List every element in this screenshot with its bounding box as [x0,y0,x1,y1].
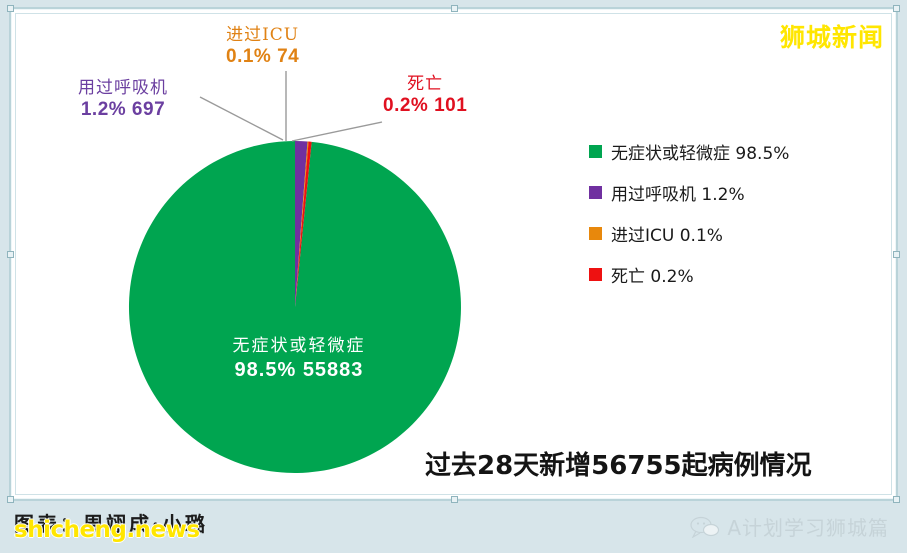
callout-label-ventilator: 用过呼吸机 1.2% 697 [78,79,168,120]
callout-icu-value: 0.1% 74 [226,46,299,67]
resize-handle-bottom-right[interactable] [893,496,900,503]
resize-handle-bottom-center[interactable] [451,496,458,503]
pie-slice-asymptomatic[interactable] [129,141,461,473]
resize-handle-bottom-left[interactable] [7,496,14,503]
callout-ventilator-value: 1.2% 697 [78,99,168,120]
resize-handle-middle-right[interactable] [893,251,900,258]
legend-swatch-icu [589,227,602,240]
legend-label-death: 死亡 0.2% [611,262,694,287]
legend-label-icu: 进过ICU 0.1% [611,221,723,246]
slide-canvas: 进过ICU 0.1% 74 用过呼吸机 1.2% 697 死亡 0.2% 101… [0,0,907,553]
legend-item-asymptomatic[interactable]: 无症状或轻微症 98.5% [589,131,789,172]
chart-title: 过去28天新增56755起病例情况 [425,445,812,482]
legend-item-icu[interactable]: 进过ICU 0.1% [589,213,789,254]
callout-death-value: 0.2% 101 [383,95,467,116]
pie-inner-label-value: 98.5% 55883 [179,358,419,382]
callout-death-name: 死亡 [383,75,467,94]
legend-swatch-ventilator [589,186,602,199]
legend-label-ventilator: 用过呼吸机 1.2% [611,180,745,205]
callout-ventilator-name: 用过呼吸机 [78,79,168,98]
chart-legend: 无症状或轻微症 98.5% 用过呼吸机 1.2% 进过ICU 0.1% 死亡 0… [589,131,789,295]
brand-logo: 狮城新闻 [780,18,884,54]
pie-chart-svg [119,127,471,479]
site-watermark: shicheng.news [14,517,200,543]
speech-bubble-icon [690,516,720,538]
resize-handle-top-right[interactable] [893,5,900,12]
callout-icu-name: 进过ICU [226,26,299,45]
legend-item-death[interactable]: 死亡 0.2% [589,254,789,295]
wechat-watermark: A计划学习狮城篇 [690,512,889,541]
legend-item-ventilator[interactable]: 用过呼吸机 1.2% [589,172,789,213]
resize-handle-top-left[interactable] [7,5,14,12]
legend-label-asymptomatic: 无症状或轻微症 98.5% [611,139,789,164]
selected-chart-object-frame[interactable]: 进过ICU 0.1% 74 用过呼吸机 1.2% 697 死亡 0.2% 101… [9,7,898,501]
callout-label-death: 死亡 0.2% 101 [383,75,467,116]
pie-inner-label-name: 无症状或轻微症 [179,336,419,356]
legend-swatch-asymptomatic [589,145,602,158]
pie-slice-label-asymptomatic: 无症状或轻微症 98.5% 55883 [179,336,419,382]
resize-handle-middle-left[interactable] [7,251,14,258]
resize-handle-top-center[interactable] [451,5,458,12]
callout-label-icu: 进过ICU 0.1% 74 [226,26,299,67]
legend-swatch-death [589,268,602,281]
wechat-watermark-text: A计划学习狮城篇 [727,512,889,541]
pie-chart[interactable] [119,127,471,479]
